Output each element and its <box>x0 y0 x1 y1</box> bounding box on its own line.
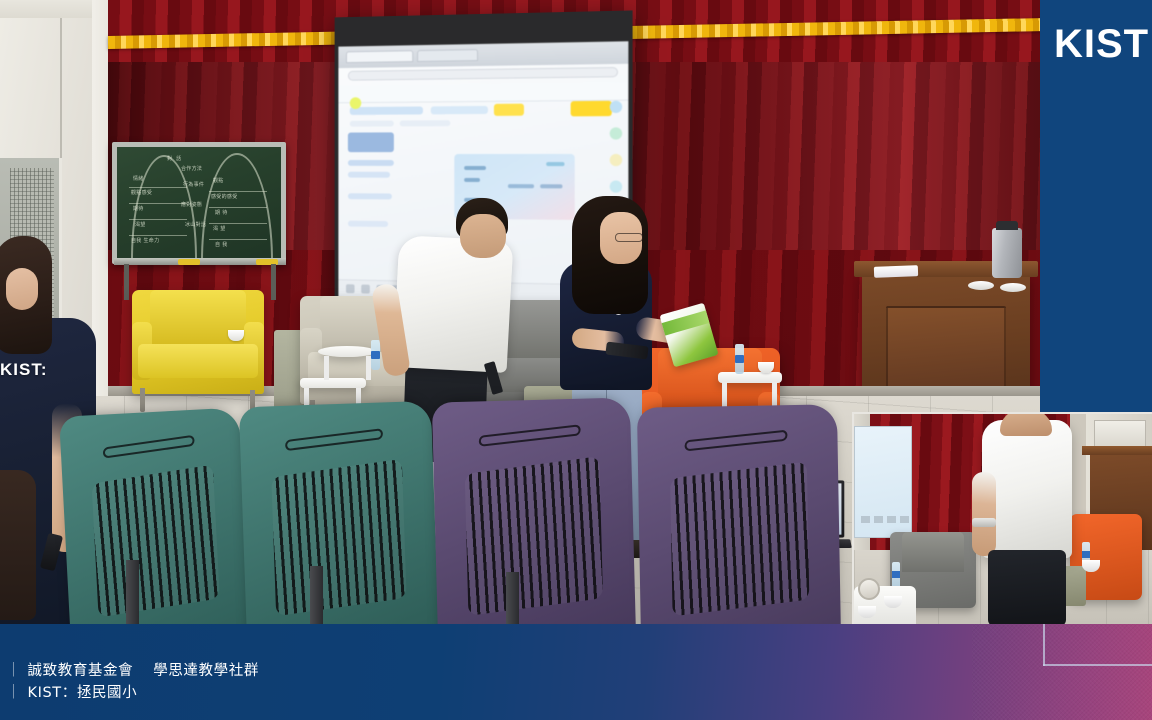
kist-sidebar-logo: KIST <box>1054 22 1149 67</box>
auditorium-seat <box>437 402 631 624</box>
auditorium-seat <box>244 405 434 624</box>
seat-leg <box>126 560 139 624</box>
podium-saucer-1 <box>968 281 994 290</box>
banner-texture <box>972 624 1152 720</box>
seat-leg <box>310 566 323 624</box>
credit-sep-1: ｜ <box>6 663 21 679</box>
water-bottle <box>371 340 380 370</box>
thermos-flask <box>992 228 1022 278</box>
water-bottle <box>735 344 744 374</box>
seat-leg <box>506 572 519 624</box>
credit-row-video: 影片提供｜KIST：拯民國小 <box>0 682 259 704</box>
screenshot-stage: 對 話 合作方法 情緒 觀點感受 期待 渴望 自我 生命力 行為事件 應對姿態 … <box>0 0 1152 720</box>
credit-value-1b: 學思達教學社群 <box>153 663 259 679</box>
banner-tick-horizontal <box>1043 664 1152 666</box>
pip-projection-screen <box>854 426 912 538</box>
pip-wristwatch <box>972 518 996 527</box>
table-leg <box>324 356 329 380</box>
podium-saucer-2 <box>1000 283 1026 292</box>
credit-value-1: 誠致教育基金會 <box>28 663 134 679</box>
credit-value-2: KIST：拯民國小 <box>28 685 138 701</box>
credit-row-organizer: 主辦單位｜誠致教育基金會學思達教學社群 <box>0 660 259 682</box>
auditorium-seat <box>64 412 245 624</box>
podium-papers <box>874 265 918 278</box>
side-table-small <box>300 378 366 388</box>
yellow-armchair <box>132 290 264 394</box>
shirt-kist-logo: KIST: <box>0 360 48 380</box>
credit-sep-2: ｜ <box>6 685 21 701</box>
brand-sidebar: KIST <box>1040 0 1152 412</box>
eyeglasses <box>615 233 643 242</box>
picture-in-picture-view[interactable] <box>852 412 1152 624</box>
auditorium-seat <box>642 408 836 624</box>
pip-clock <box>858 578 880 600</box>
lower-third-banner: 主辦單位｜誠致教育基金會學思達教學社群 影片提供｜KIST：拯民國小 KIST:… <box>0 624 1152 720</box>
credits-block: 主辦單位｜誠致教育基金會學思達教學社群 影片提供｜KIST：拯民國小 <box>0 660 259 705</box>
chalkboard: 對 話 合作方法 情緒 觀點感受 期待 渴望 自我 生命力 行為事件 應對姿態 … <box>112 142 286 264</box>
banner-tick-vertical-2 <box>1043 624 1045 666</box>
pip-water-bottle <box>892 562 900 588</box>
chair-leg <box>140 388 145 412</box>
